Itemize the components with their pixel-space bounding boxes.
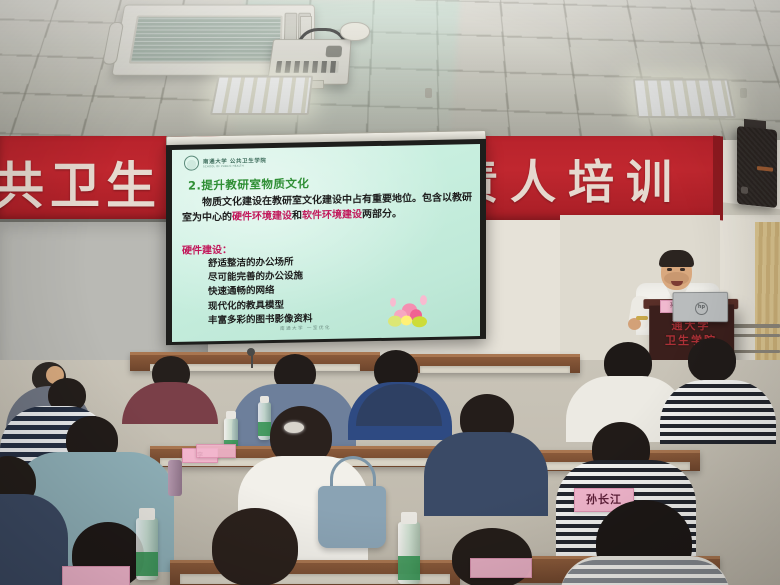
hp-logo-icon: hp: [695, 302, 708, 315]
slide-bullet-item: 尽可能完善的办公设施: [208, 269, 313, 285]
slide-subheading: 硬件建设：: [182, 241, 232, 257]
bottle-label: [398, 556, 420, 580]
slide-paragraph-post: 两: [362, 209, 372, 220]
slide-logo: 南通大学 公共卫生学院 SCHOOL OF PUBLIC HEALTH: [184, 154, 267, 171]
hp-logo-text: hp: [696, 303, 707, 312]
desk-name-card: [196, 444, 236, 458]
presenter-wristwatch: [636, 316, 648, 320]
audience-head: [212, 508, 298, 585]
speaker-indicator: [741, 186, 748, 194]
microphone-stem: [251, 354, 253, 368]
bottle-cap: [401, 512, 417, 524]
banner-text-left: 共卫生: [0, 146, 162, 208]
logo-english-text: SCHOOL OF PUBLIC HEALTH: [203, 164, 267, 168]
bottle-cap: [226, 411, 236, 419]
ceiling-shading: [0, 0, 780, 142]
banner-text-right: 责人培训: [452, 146, 684, 208]
bottle-cap: [260, 396, 269, 403]
slide-heading: 2.提升教研室物质文化: [188, 175, 309, 193]
slide-paragraph-line1: 物质文化建设在教研室文化建设中占有重要地位。: [202, 193, 422, 208]
slide-highlight-software: 软件环境建设: [302, 209, 362, 221]
audience-checked-shirt: [660, 380, 776, 444]
desk-name-card: [62, 566, 130, 585]
audience-shoulders: [424, 432, 548, 516]
presenter-hair: [659, 250, 694, 267]
banner-edge: [713, 135, 723, 220]
university-emblem-icon: [184, 155, 199, 170]
slide-footer-text: 南通大学 一室优化: [280, 325, 331, 332]
lecture-hall-photo: 共卫生 责人培训 南通大学 公共卫生学院 SCHOOL OF PUBLIC HE…: [0, 0, 780, 585]
hair-clip-icon: [284, 422, 304, 433]
bottle-label: [136, 552, 158, 576]
slide-bullet-list: 舒适整洁的办公场所 尽可能完善的办公设施 快速通畅的网络 现代化的教具模型 丰富…: [208, 255, 313, 328]
handbag: [318, 486, 386, 548]
projection-screen: 南通大学 公共卫生学院 SCHOOL OF PUBLIC HEALTH 2.提升…: [172, 144, 480, 342]
desk-surface: [420, 366, 570, 373]
microphone-icon: [247, 348, 255, 356]
slide-paragraph-mid: 和: [292, 210, 302, 221]
bottle-cap: [139, 508, 155, 520]
audience-shoulders: [122, 382, 218, 424]
desk-name-card: [470, 558, 532, 578]
audience-head: [688, 338, 736, 382]
presenter-laptop: hp: [673, 292, 729, 322]
slide-paragraph-line3: 部分。: [372, 209, 402, 221]
wall-speaker-icon: [737, 126, 777, 208]
audience-striped-shirt: [560, 560, 730, 585]
ceiling: [0, 0, 780, 142]
slide-highlight-hardware: 硬件环境建设: [232, 211, 292, 223]
speaker-brand-logo: [757, 166, 773, 172]
thermos-flask: [168, 460, 182, 496]
slide-flower-decoration: [384, 291, 436, 330]
slide-paragraph: 物质文化建设在教研室文化建设中占有重要地位。包含以教研室为中心的硬件环境建设和软…: [182, 190, 474, 226]
audience-area: 李 孙长江: [0, 360, 780, 585]
